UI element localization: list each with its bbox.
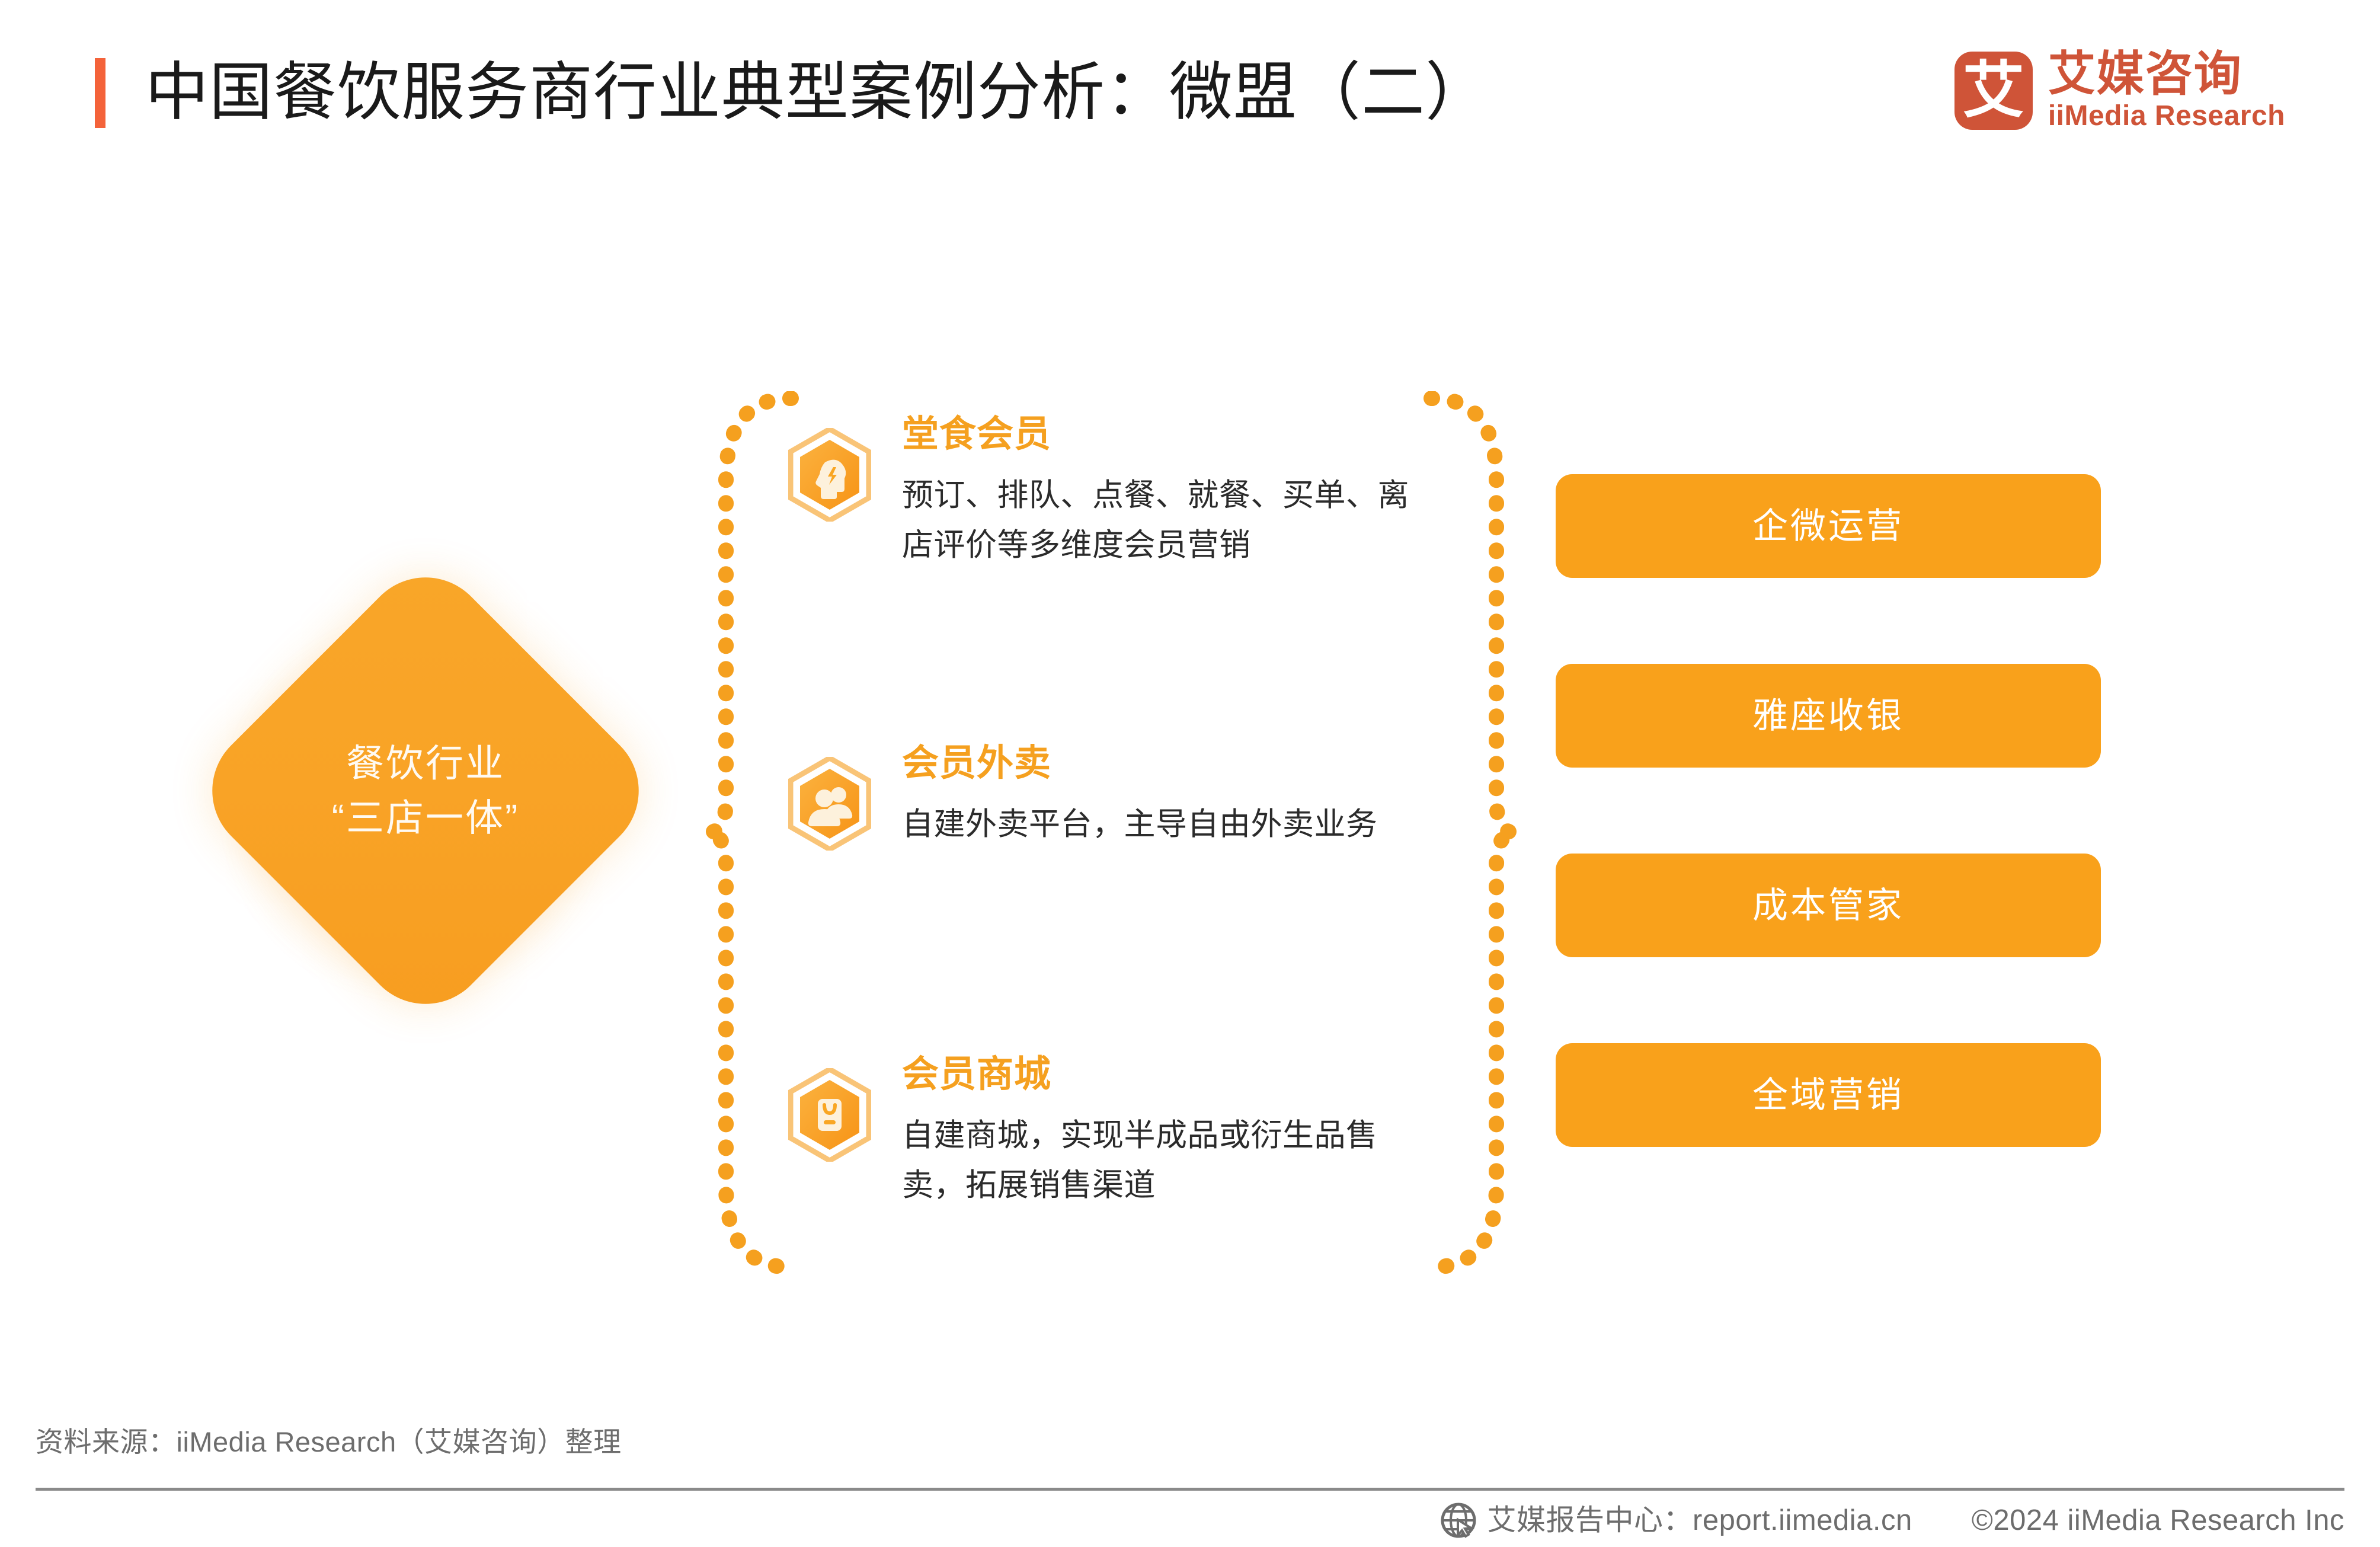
footer-bar: 艾媒报告中心：report.iimedia.cn ©2024 iiMedia R… (0, 1494, 2380, 1547)
users-icon (788, 757, 871, 851)
logo-mark-glyph: 艾 (1954, 52, 2033, 130)
feature-block-text: 会员外卖 自建外卖平台，主导自由外卖业务 (902, 738, 1416, 849)
feature-block-title: 会员商城 (902, 1051, 1416, 1098)
footer-report-center-label: 艾媒报告中心：report.iimedia.cn (1487, 1502, 1912, 1539)
product-pill[interactable]: 全域营销 (1556, 1043, 2101, 1147)
feature-block-list: 堂食会员 预订、排队、点餐、就餐、买单、离店评价等多维度会员营销 (788, 409, 1416, 1257)
slide-canvas: 中国餐饮服务商行业典型案例分析：微盟（二） 艾 艾媒咨询 iiMedia Res… (0, 0, 2380, 1547)
footer-report-center[interactable]: 艾媒报告中心：report.iimedia.cn (1440, 1502, 1912, 1539)
feature-block: 会员商城 自建商城，实现半成品或衍生品售卖，拓展销售渠道 (788, 1049, 1416, 1210)
product-pill-list: 企微运营 雅座收银 成本管家 全域营销 (1556, 474, 2101, 1147)
product-pill[interactable]: 雅座收银 (1556, 664, 2101, 768)
dotted-brace-right-icon (1413, 391, 1520, 1274)
shopping-bag-icon (788, 1068, 871, 1162)
slide-header: 中国餐饮服务商行业典型案例分析：微盟（二） 艾 艾媒咨询 iiMedia Res… (0, 0, 2380, 178)
feature-block-text: 堂食会员 预订、排队、点餐、就餐、买单、离店评价等多维度会员营销 (902, 409, 1416, 570)
feature-block-desc: 自建外卖平台，主导自由外卖业务 (902, 800, 1416, 849)
footer-divider (36, 1488, 2344, 1491)
center-diamond: 餐饮行业 “三店一体” (201, 593, 676, 1019)
page-title: 中国餐饮服务商行业典型案例分析：微盟（二） (145, 47, 1489, 136)
logo-name-en: iiMedia Research (2048, 100, 2285, 133)
logo-text: 艾媒咨询 iiMedia Research (2048, 49, 2285, 133)
feature-block-title: 会员外卖 (902, 740, 1416, 787)
footer-copyright: ©2024 iiMedia Research Inc (1972, 1502, 2344, 1539)
logo-mark-icon: 艾 (1954, 52, 2033, 130)
diamond-label-line2: “三店一体” (332, 791, 520, 845)
product-pill[interactable]: 企微运营 (1556, 474, 2101, 578)
diamond-label: 餐饮行业 “三店一体” (256, 621, 595, 960)
feature-block: 会员外卖 自建外卖平台，主导自由外卖业务 (788, 738, 1416, 851)
head-lightning-icon (788, 428, 871, 522)
brand-logo: 艾 艾媒咨询 iiMedia Research (1954, 49, 2285, 133)
source-note: 资料来源：iiMedia Research（艾媒咨询）整理 (36, 1421, 622, 1463)
feature-block-text: 会员商城 自建商城，实现半成品或衍生品售卖，拓展销售渠道 (902, 1049, 1416, 1210)
feature-block-desc: 自建商城，实现半成品或衍生品售卖，拓展销售渠道 (902, 1111, 1416, 1210)
logo-name-cn: 艾媒咨询 (2048, 49, 2285, 100)
feature-block-desc: 预订、排队、点餐、就餐、买单、离店评价等多维度会员营销 (902, 471, 1416, 570)
diamond-label-line1: 餐饮行业 (346, 736, 505, 791)
feature-block: 堂食会员 预订、排队、点餐、就餐、买单、离店评价等多维度会员营销 (788, 409, 1416, 570)
product-pill[interactable]: 成本管家 (1556, 854, 2101, 957)
title-accent-bar (95, 58, 105, 128)
feature-block-title: 堂食会员 (902, 411, 1416, 458)
globe-cursor-icon (1440, 1502, 1477, 1539)
